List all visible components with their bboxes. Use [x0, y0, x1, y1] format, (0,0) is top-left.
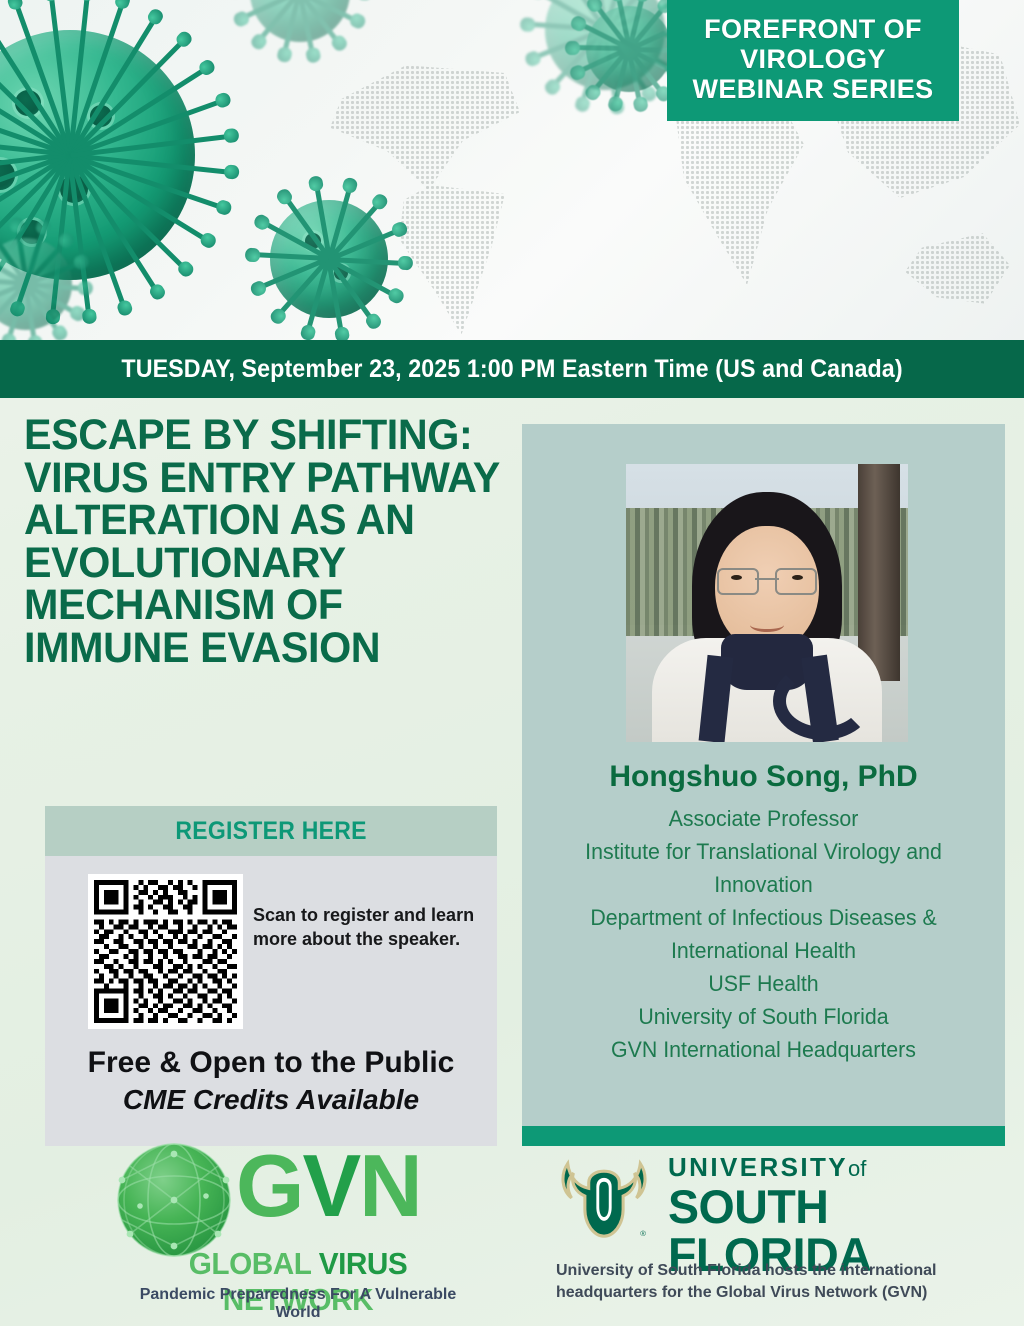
event-date-bar: TUESDAY, September 23, 2025 1:00 PM East…: [0, 340, 1024, 398]
affiliation-line: GVN International Headquarters: [533, 1033, 994, 1066]
virus-particle-icon: [586, 6, 672, 92]
usf-bull-icon: ®: [556, 1154, 652, 1240]
register-here-bar[interactable]: REGISTER HERE: [45, 806, 497, 856]
webinar-series-badge: FOREFRONT OF VIROLOGY WEBINAR SERIES: [667, 0, 959, 121]
affiliation-line: Department of Infectious Diseases & Inte…: [533, 901, 994, 967]
page-title: ESCAPE BY SHIFTING: VIRUS ENTRY PATHWAY …: [24, 414, 504, 669]
affiliation-line: USF Health: [533, 967, 994, 1000]
cme-credits-text: CME Credits Available: [45, 1084, 497, 1116]
svg-text:®: ®: [640, 1229, 646, 1238]
registration-panel: REGISTER HERE: [45, 806, 497, 1146]
affiliation-line: University of South Florida: [533, 1000, 994, 1033]
usf-line1-main: UNIVERSITY: [668, 1152, 848, 1182]
gvn-letter-n: N: [359, 1136, 421, 1235]
registration-body: Scan to register and learn more about th…: [45, 856, 497, 1146]
usf-line1-of: of: [848, 1156, 866, 1181]
qr-code[interactable]: [88, 874, 243, 1029]
badge-line-2: VIROLOGY: [677, 44, 949, 74]
network-lines-icon: [110, 1136, 238, 1264]
speaker-panel: Hongshuo Song, PhD Associate Professor I…: [522, 424, 1005, 1126]
virus-particle-icon: [250, 0, 350, 42]
scan-instructions: Scan to register and learn more about th…: [253, 904, 483, 952]
speaker-photo: [626, 464, 908, 742]
gvn-word-global: GLOBAL: [189, 1246, 319, 1281]
gvn-tagline: Pandemic Preparedness For A Vulnerable W…: [118, 1286, 478, 1322]
gvn-acronym: GVN: [236, 1142, 421, 1230]
header-banner: FOREFRONT OF VIROLOGY WEBINAR SERIES: [0, 0, 1024, 340]
badge-line-3: WEBINAR SERIES: [677, 74, 949, 104]
speaker-affiliations: Associate Professor Institute for Transl…: [533, 802, 994, 1066]
virus-particle-icon: [270, 200, 388, 318]
gvn-word-virus: VIRUS: [319, 1246, 408, 1281]
event-datetime-text: TUESDAY, September 23, 2025 1:00 PM East…: [121, 355, 902, 384]
free-open-text: Free & Open to the Public: [45, 1046, 497, 1080]
speaker-name: Hongshuo Song, PhD: [522, 760, 1005, 794]
gvn-logo: GVN GLOBAL VIRUS NETWORK Pandemic Prepar…: [118, 1142, 478, 1322]
usf-hosting-note: University of South Florida hosts the in…: [556, 1260, 1008, 1304]
gvn-letter-v: V: [302, 1136, 359, 1235]
badge-line-1: FOREFRONT OF: [677, 14, 949, 44]
gvn-letter-g: G: [236, 1136, 302, 1235]
register-here-label: REGISTER HERE: [175, 817, 366, 846]
affiliation-line: Institute for Translational Virology and…: [533, 835, 994, 901]
affiliation-line: Associate Professor: [533, 802, 994, 835]
speaker-panel-footer-bar: [522, 1126, 1005, 1146]
